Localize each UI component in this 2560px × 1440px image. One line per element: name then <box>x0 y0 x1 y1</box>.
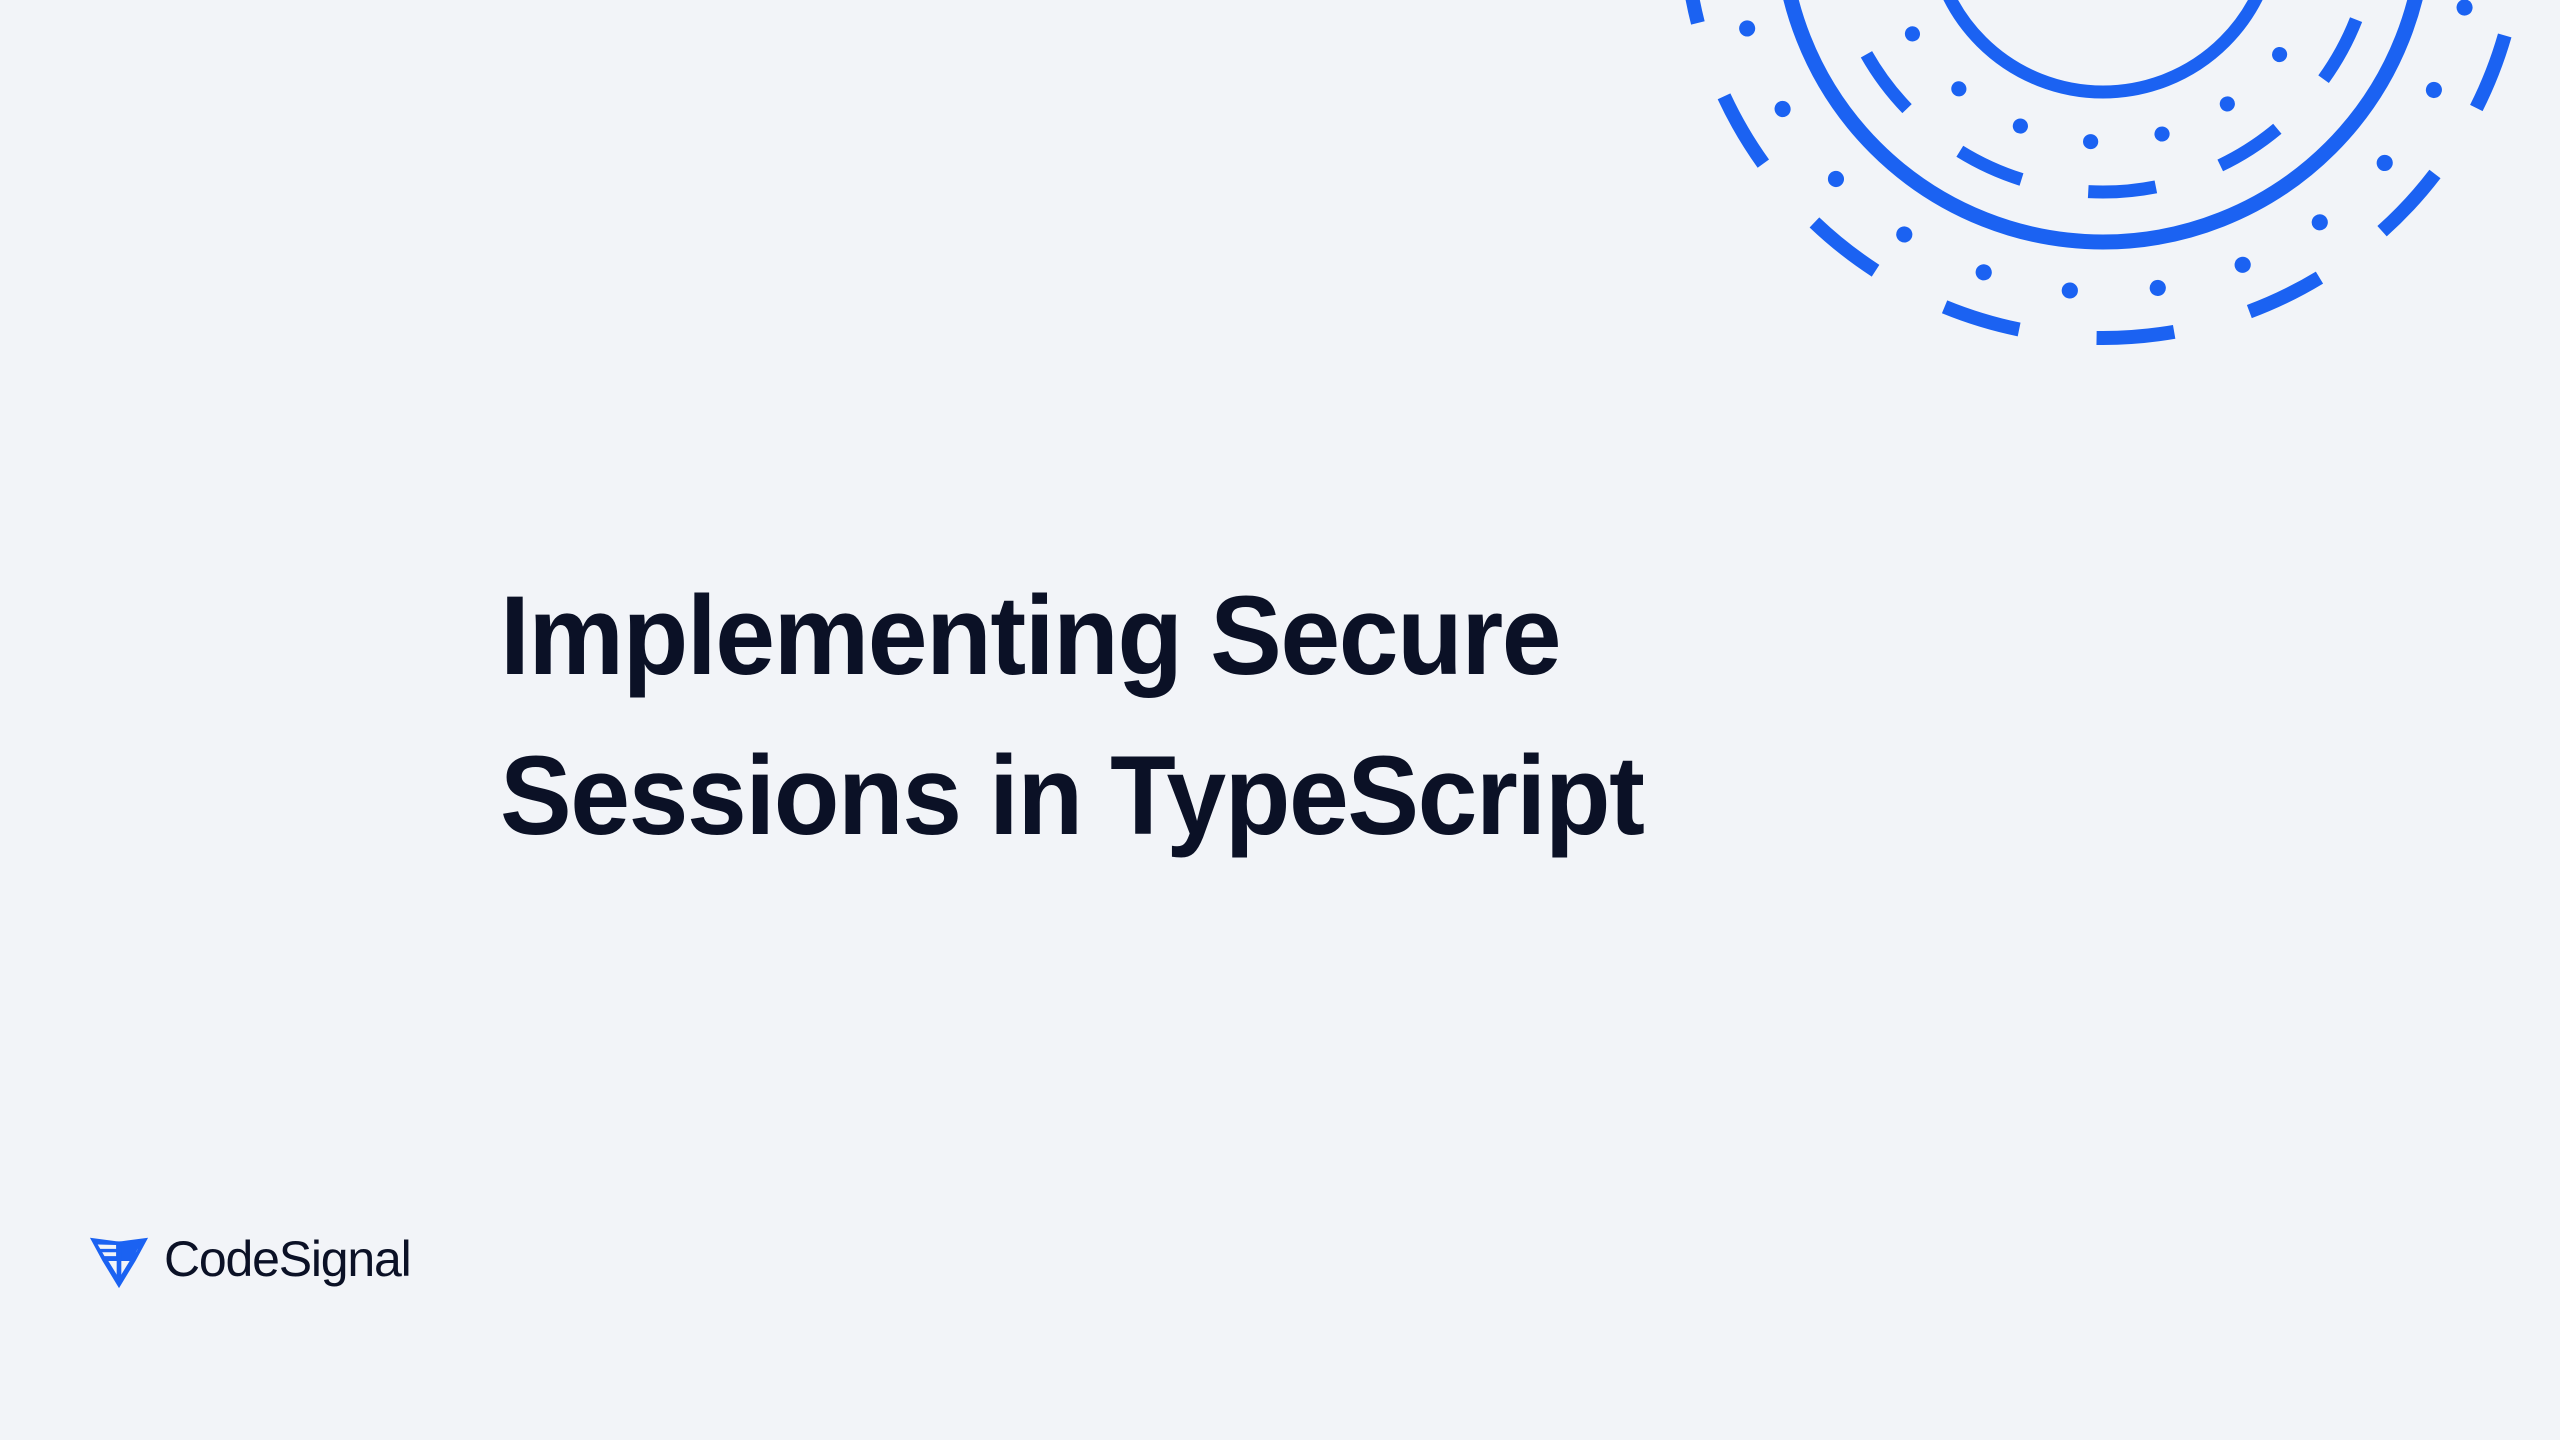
title-line-1: Implementing Secure <box>500 556 1796 716</box>
ring-solid-4 <box>1781 0 2425 242</box>
ring-dashed-outer <box>1685 0 2521 338</box>
codesignal-falcon-icon <box>88 1228 150 1290</box>
ring-solid-inner <box>1931 0 2275 92</box>
ring-dotted-2 <box>1881 0 2325 142</box>
title-line-2: Sessions in TypeScript <box>500 716 1796 876</box>
brand-wordmark: CodeSignal <box>164 1234 411 1284</box>
ring-dashed-3 <box>1831 0 2375 192</box>
page-title: Implementing Secure Sessions in TypeScri… <box>500 556 1850 876</box>
slide-canvas: Implementing Secure Sessions in TypeScri… <box>0 0 2560 1440</box>
brand-logo: CodeSignal <box>88 1228 411 1290</box>
concentric-rings-graphic <box>1660 0 2560 560</box>
ring-dotted-5 <box>1731 0 2475 292</box>
